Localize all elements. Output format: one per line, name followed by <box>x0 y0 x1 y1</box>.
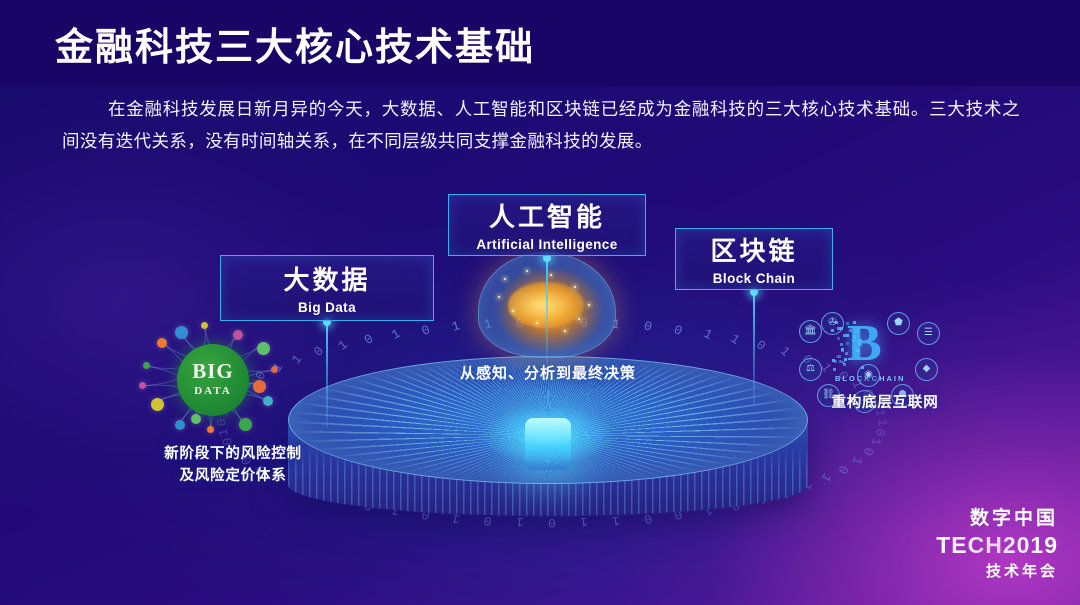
binary-digit: 1 <box>450 319 462 336</box>
blockchain-pixel <box>838 355 841 358</box>
big-data-node-icon <box>151 398 164 411</box>
binary-digit: 0 <box>642 319 654 336</box>
bitcoin-b-icon: B <box>847 318 882 370</box>
blockchain-pixel <box>843 363 846 366</box>
big-data-node-icon <box>271 366 278 373</box>
binary-digit: 1 <box>389 326 403 343</box>
big-data-node-icon <box>139 382 146 389</box>
event-logo: 数字中国 TECH2019 技术年会 <box>936 503 1058 581</box>
blockchain-pixel <box>840 343 843 346</box>
disc-core-glow <box>525 418 571 470</box>
big-data-node-icon <box>239 418 252 431</box>
binary-digit: 1 <box>874 419 889 427</box>
blockchain-pixel <box>832 359 835 362</box>
binary-digit: 1 <box>728 331 743 348</box>
blockchain-node-icon: 🏛 <box>799 320 822 343</box>
caption-block-chain: 重构底层互联网 <box>790 392 980 414</box>
body-paragraph: 在金融科技发展日新月异的今天，大数据、人工智能和区块链已经成为金融科技的三大核心… <box>62 93 1020 157</box>
binary-digit: 1 <box>700 326 714 343</box>
page-title: 金融科技三大核心技术基础 <box>55 16 535 71</box>
blockchain-icon-cluster: B BLOCKCHAIN 🏛⚖⛓♦☗◆☰⬟✇◉ <box>795 312 945 404</box>
big-data-badge-bottom: DATA <box>177 385 249 397</box>
blockchain-pixel <box>845 352 848 355</box>
blockchain-pixel <box>859 343 862 346</box>
label-block-chain-cn: 区块链 <box>676 238 832 264</box>
blockchain-pixel <box>861 366 864 369</box>
blockchain-pixel <box>853 321 856 324</box>
blockchain-node-icon: ⬟ <box>887 312 910 335</box>
binary-digit: 0 <box>872 428 888 437</box>
logo-line-1: 数字中国 <box>936 503 1058 530</box>
blockchain-pixel <box>855 329 858 332</box>
big-data-node-icon <box>201 322 208 329</box>
binary-digit: 0 <box>753 337 769 354</box>
blockchain-node-icon: ⚖ <box>799 358 822 381</box>
blockchain-pixel <box>843 334 846 337</box>
binary-digit: 0 <box>672 322 685 339</box>
blockchain-pixel <box>846 322 849 325</box>
big-data-node-icon <box>175 420 185 430</box>
big-data-node-icon <box>253 380 266 393</box>
big-data-badge: BIG DATA <box>177 344 249 416</box>
label-box-artificial-intelligence[interactable]: 人工智能 Artificial Intelligence <box>448 194 646 256</box>
big-data-node-icon <box>263 396 273 406</box>
caption-big-data-line1: 新阶段下的风险控制 <box>98 443 368 465</box>
binary-digit: 0 <box>361 331 376 348</box>
big-data-node-icon <box>175 326 188 339</box>
blockchain-node-icon: ◆ <box>915 358 938 381</box>
connector-big-data <box>326 322 328 428</box>
label-block-chain-en: Block Chain <box>676 271 832 286</box>
blockchain-node-icon: ☰ <box>917 322 940 345</box>
blockchain-pixel <box>853 335 856 338</box>
big-data-node-icon <box>207 426 214 433</box>
blockchain-pixel <box>844 358 847 361</box>
logo-line-2: TECH2019 <box>936 532 1058 559</box>
caption-big-data: 新阶段下的风险控制 及风险定价体系 <box>98 443 368 487</box>
label-ai-cn: 人工智能 <box>449 204 645 230</box>
label-box-block-chain[interactable]: 区块链 Block Chain <box>675 228 833 290</box>
binary-digit: 1 <box>335 337 351 354</box>
big-data-badge-top: BIG <box>177 359 249 384</box>
binary-digit: 1 <box>818 471 835 486</box>
label-big-data-cn: 大数据 <box>221 267 433 293</box>
connector-block-chain <box>753 292 755 404</box>
blockchain-pixel <box>846 342 849 345</box>
slide-canvas: 金融科技三大核心技术基础 在金融科技发展日新月异的今天，大数据、人工智能和区块链… <box>0 0 1080 605</box>
label-ai-en: Artificial Intelligence <box>449 237 645 252</box>
caption-big-data-line2: 及风险定价体系 <box>98 465 368 487</box>
blockchain-pixel <box>838 327 841 330</box>
blockchain-pixel <box>856 349 859 352</box>
big-data-node-icon <box>233 330 243 340</box>
binary-digit: 0 <box>859 446 876 458</box>
label-big-data-en: Big Data <box>221 300 433 315</box>
big-data-node-icon <box>157 338 167 348</box>
binary-digit: 0 <box>834 463 851 477</box>
binary-digit: 1 <box>848 454 865 467</box>
blockchain-pixel <box>849 329 852 332</box>
blockchain-pixel <box>833 368 836 371</box>
big-data-icon-cluster: BIG DATA <box>135 322 285 437</box>
label-box-big-data[interactable]: 大数据 Big Data <box>220 255 434 321</box>
binary-digit: 1 <box>867 437 883 448</box>
blockchain-pixel <box>841 348 844 351</box>
big-data-node-icon <box>191 414 201 424</box>
binary-digit: 0 <box>419 322 432 339</box>
big-data-node-icon <box>143 362 150 369</box>
blockchain-pixel <box>831 329 834 332</box>
caption-ai: 从感知、分析到最终决策 <box>398 362 698 383</box>
big-data-node-icon <box>257 342 270 355</box>
blockchain-pixel <box>835 321 838 324</box>
logo-line-3: 技术年会 <box>936 560 1058 581</box>
blockchain-pixel <box>846 334 849 337</box>
connector-ai <box>546 258 548 362</box>
blockchain-pixel <box>837 337 840 340</box>
blockchain-pixel <box>852 339 855 342</box>
